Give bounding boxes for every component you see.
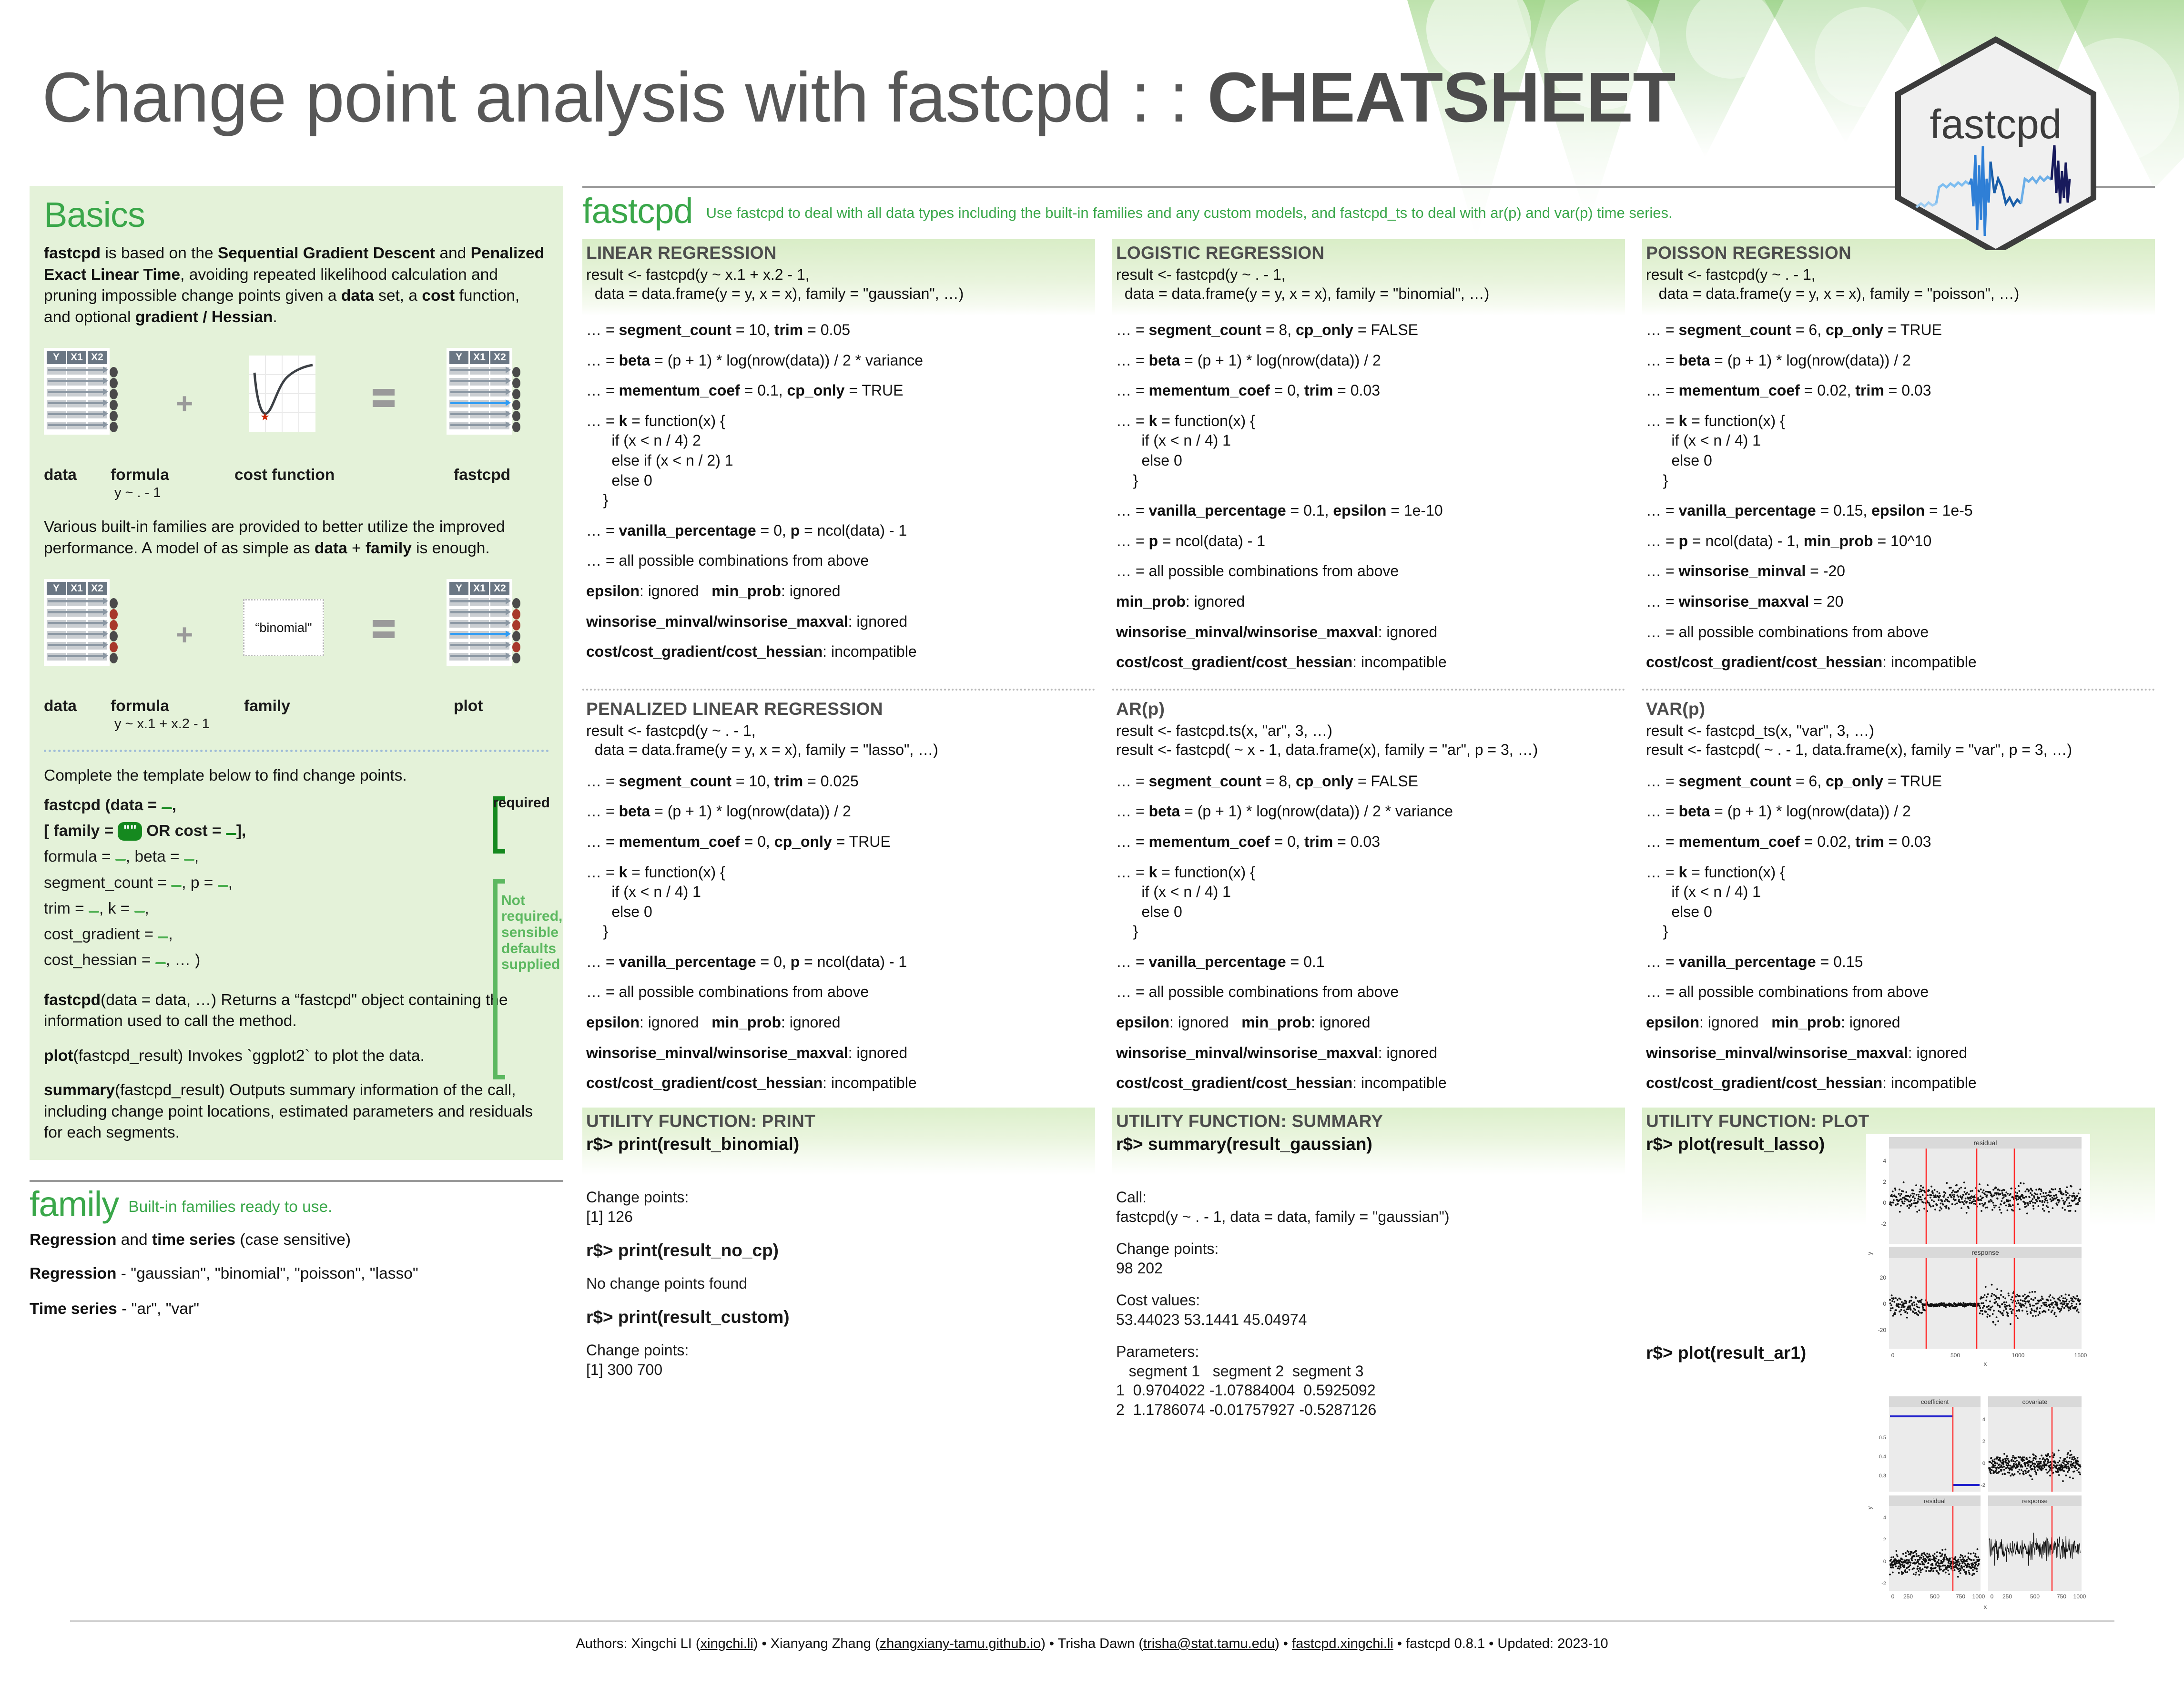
r-prompt: r$> print(result_no_cp): [586, 1239, 1091, 1261]
cell-ar-p: AR(p) result <- fastcpd.ts(x, "ar", 3, ……: [1112, 699, 1625, 1104]
divider-dotted: [1112, 689, 1625, 691]
label-formula-value: y ~ . - 1: [114, 485, 161, 501]
svg-text:500: 500: [1930, 1593, 1940, 1600]
family-line-2: Regression - "gaussian", "binomial", "po…: [30, 1263, 563, 1285]
param-line: … = vanilla_percentage = 0.1: [1116, 952, 1621, 972]
param-line: cost/cost_gradient/cost_hessian: incompa…: [1646, 652, 2151, 672]
col-header-x2: X2: [88, 582, 107, 595]
param-line: … = all possible combinations from above: [1116, 982, 1621, 1002]
param-line: … = mementum_coef = 0, trim = 0.03: [1116, 381, 1621, 401]
divider-dotted: [44, 750, 549, 752]
svg-text:500: 500: [1950, 1352, 1960, 1359]
family-cells-row-2: PENALIZED LINEAR REGRESSION result <- fa…: [582, 699, 2155, 1104]
param-line: cost/cost_gradient/cost_hessian: incompa…: [586, 642, 1091, 662]
cell-code: result <- fastcpd(y ~ x.1 + x.2 - 1, dat…: [586, 265, 1090, 303]
template-placeholder[interactable]: [89, 911, 99, 913]
label-cost-function: cost function: [234, 466, 335, 484]
template-line: cost_gradient = ,: [44, 922, 549, 947]
cell-params: … = segment_count = 8, cp_only = FALSE… …: [1112, 315, 1625, 672]
cell-code: result <- fastcpd(y ~ . - 1, data = data…: [1116, 265, 1620, 303]
svg-text:-2: -2: [1881, 1220, 1886, 1227]
left-column: Basics fastcpd is based on the Sequentia…: [30, 186, 563, 1320]
param-line: … = mementum_coef = 0, trim = 0.03: [1116, 832, 1621, 852]
label-family: family: [244, 697, 290, 715]
param-line: … = mementum_coef = 0, cp_only = TRUE: [586, 832, 1091, 852]
data-table-4: Y X1 X2: [447, 579, 512, 666]
param-line: … = all possible combinations from above: [586, 551, 1091, 571]
template-line: trim = , k = ,: [44, 896, 549, 922]
param-line: epsilon: ignored min_prob: ignored: [586, 1013, 1091, 1033]
svg-text:0: 0: [1883, 1559, 1886, 1565]
plus-icon-1: +: [176, 387, 193, 421]
family-heading: family: [30, 1187, 119, 1222]
col-header-y: Y: [47, 582, 66, 595]
svg-text:2: 2: [1982, 1439, 1985, 1444]
console-output: Change points: 98 202: [1116, 1239, 1621, 1278]
param-line: winsorise_minval/winsorise_maxval: ignor…: [586, 1043, 1091, 1063]
label-data: data: [44, 466, 77, 484]
utility-title: UTILITY FUNCTION: PLOT: [1646, 1111, 2150, 1131]
svg-text:0.4: 0.4: [1879, 1454, 1886, 1460]
param-line: … = beta = (p + 1) * log(nrow(data)) / 2…: [586, 351, 1091, 371]
divider-rule: [30, 1180, 563, 1182]
svg-text:response: response: [2022, 1497, 2047, 1505]
svg-text:500: 500: [2030, 1593, 2040, 1600]
basics-intro: fastcpd is based on the Sequential Gradi…: [44, 243, 549, 328]
param-line: cost/cost_gradient/cost_hessian: incompa…: [1646, 1073, 2151, 1093]
data-table-3: Y X1 X2: [44, 579, 110, 666]
svg-text:response: response: [1971, 1249, 1999, 1256]
equals-icon-2: [373, 620, 395, 643]
col-header-x1: X1: [67, 351, 86, 364]
param-line: … = beta = (p + 1) * log(nrow(data)) / 2…: [1116, 802, 1621, 822]
svg-text:4: 4: [1883, 1158, 1886, 1164]
param-line: … = beta = (p + 1) * log(nrow(data)) / 2: [1116, 351, 1621, 371]
svg-text:750: 750: [1956, 1593, 1965, 1600]
label-plot: plot: [454, 697, 483, 715]
cell-title: PENALIZED LINEAR REGRESSION: [586, 699, 1091, 719]
cell-params: … = segment_count = 6, cp_only = TRUE… =…: [1642, 315, 2155, 672]
r-prompt: r$> summary(result_gaussian): [1116, 1134, 1620, 1154]
fastcpd-logo: fastcpd: [1893, 36, 2098, 250]
param-line: … = mementum_coef = 0.1, cp_only = TRUE: [586, 381, 1091, 401]
data-table-1: Y X1 X2: [44, 348, 110, 435]
param-line: … = beta = (p + 1) * log(nrow(data)) / 2: [586, 802, 1091, 822]
cost-function-plot: ★: [249, 356, 315, 432]
svg-text:0: 0: [1883, 1301, 1886, 1307]
console-output: Call: fastcpd(y ~ . - 1, data = data, fa…: [1116, 1188, 1621, 1227]
param-line: … = segment_count = 10, trim = 0.025: [586, 772, 1091, 792]
summary-output: Call: fastcpd(y ~ . - 1, data = data, fa…: [1112, 1188, 1625, 1420]
svg-text:x: x: [1984, 1360, 1987, 1367]
label-formula-value: y ~ x.1 + x.2 - 1: [114, 716, 210, 732]
cell-logistic-regression: LOGISTIC REGRESSION result <- fastcpd(y …: [1112, 239, 1625, 683]
cell-params: … = segment_count = 8, cp_only = FALSE… …: [1112, 759, 1625, 1093]
svg-text:2: 2: [1883, 1537, 1886, 1543]
page-header: Change point analysis with fastcpd : : C…: [0, 0, 2184, 191]
template-placeholder[interactable]: [115, 859, 126, 861]
col-header-y: Y: [449, 351, 468, 364]
param-line: epsilon: ignored min_prob: ignored: [1116, 1013, 1621, 1033]
cell-title: AR(p): [1116, 699, 1621, 719]
param-line: … = vanilla_percentage = 0, p = ncol(dat…: [586, 952, 1091, 972]
template-line: segment_count = , p = ,: [44, 870, 549, 896]
svg-text:0: 0: [1891, 1593, 1895, 1600]
svg-text:0.5: 0.5: [1879, 1435, 1886, 1441]
template-placeholder[interactable]: [226, 833, 236, 835]
template-placeholder[interactable]: [184, 859, 194, 861]
returns-note: fastcpd(data = data, …) Returns a “fastc…: [44, 990, 549, 1032]
console-output: Parameters: segment 1 segment 2 segment …: [1116, 1342, 1621, 1420]
cell-poisson-regression: POISSON REGRESSION result <- fastcpd(y ~…: [1642, 239, 2155, 683]
plot-note: plot(fastcpd_result) Invokes `ggplot2` t…: [44, 1046, 549, 1067]
svg-text:0: 0: [1883, 1200, 1886, 1206]
template-placeholder[interactable]: [171, 885, 182, 887]
svg-text:residual: residual: [1924, 1497, 1946, 1505]
cell-code: result <- fastcpd(y ~ . - 1, data = data…: [1646, 265, 2150, 303]
cell-params: … = segment_count = 10, trim = 0.025… = …: [582, 759, 1095, 1093]
col-header-x2: X2: [88, 351, 107, 364]
page-title: Change point analysis with fastcpd : : C…: [42, 57, 1676, 138]
basics-diagram-2: Y X1 X2 + “binomial" Y: [44, 576, 549, 695]
divider-dotted: [582, 689, 1095, 691]
basics-intro-2: Various built-in families are provided t…: [44, 517, 549, 559]
param-line: … = segment_count = 8, cp_only = FALSE: [1116, 772, 1621, 792]
right-column: fastcpd Use fastcpd to deal with all dat…: [582, 186, 2155, 1420]
fastcpd-heading: fastcpd: [582, 193, 693, 229]
cell-utility-summary: UTILITY FUNCTION: SUMMARY r$> summary(re…: [1112, 1108, 1625, 1420]
plus-icon-2: +: [176, 618, 193, 652]
diagram-2-labels: data formula y ~ x.1 + x.2 - 1 family pl…: [44, 697, 549, 737]
lasso-ggplot-svg: y residual 420-2 re: [1866, 1134, 2090, 1368]
label-fastcpd: fastcpd: [454, 466, 510, 484]
param-line: … = beta = (p + 1) * log(nrow(data)) / 2: [1646, 351, 2151, 371]
label-formula: formula: [111, 466, 169, 484]
col-header-y: Y: [47, 351, 66, 364]
svg-text:2: 2: [1883, 1179, 1886, 1185]
template-placeholder[interactable]: [155, 962, 166, 964]
svg-text:1500: 1500: [2074, 1352, 2087, 1359]
param-line: … = segment_count = 6, cp_only = TRUE: [1646, 320, 2151, 340]
cell-title: LINEAR REGRESSION: [586, 243, 1090, 263]
logo-label: fastcpd: [1930, 102, 2062, 147]
param-line: cost/cost_gradient/cost_hessian: incompa…: [586, 1073, 1091, 1093]
console-output: No change points found: [586, 1274, 1091, 1293]
param-line: winsorise_minval/winsorise_maxval: ignor…: [1116, 622, 1621, 642]
col-header-x1: X1: [470, 351, 489, 364]
template-line: fastcpd (data = ,: [44, 793, 549, 818]
svg-text:-2: -2: [1881, 1581, 1886, 1586]
cell-title: VAR(p): [1646, 699, 2151, 719]
param-line: … = beta = (p + 1) * log(nrow(data)) / 2: [1646, 802, 2151, 822]
param-line: winsorise_minval/winsorise_maxval: ignor…: [1646, 1043, 2151, 1063]
template-placeholder[interactable]: [134, 911, 145, 913]
svg-text:750: 750: [2057, 1593, 2066, 1600]
param-line: … = segment_count = 10, trim = 0.05: [586, 320, 1091, 340]
param-line: … = all possible combinations from above: [1116, 561, 1621, 581]
param-line: … = segment_count = 8, cp_only = FALSE: [1116, 320, 1621, 340]
cell-utility-plot: UTILITY FUNCTION: PLOT r$> plot(result_l…: [1642, 1108, 2155, 1420]
svg-text:1000: 1000: [2073, 1593, 2086, 1600]
param-line: … = segment_count = 6, cp_only = TRUE: [1646, 772, 2151, 792]
template-intro: Complete the template below to find chan…: [44, 765, 549, 787]
equals-icon-1: [373, 389, 395, 412]
basics-heading: Basics: [44, 197, 549, 233]
svg-text:-2: -2: [1981, 1483, 1985, 1488]
console-output: Change points: [1] 300 700: [586, 1341, 1091, 1380]
summary-note: summary(fastcpd_result) Outputs summary …: [44, 1080, 549, 1144]
svg-text:0.3: 0.3: [1879, 1473, 1886, 1479]
print-output: Change points: [1] 126r$> print(result_n…: [582, 1188, 1095, 1380]
svg-text:coefficient: coefficient: [1921, 1398, 1949, 1405]
param-line: … = vanilla_percentage = 0.1, epsilon = …: [1116, 501, 1621, 521]
param-line: … = k = function(x) { if (x < n / 4) 1 e…: [1116, 863, 1621, 942]
r-prompt: r$> print(result_custom): [586, 1306, 1091, 1328]
param-line: … = k = function(x) { if (x < n / 4) 1 e…: [1116, 411, 1621, 490]
cell-title: LOGISTIC REGRESSION: [1116, 243, 1620, 263]
cell-params: … = segment_count = 10, trim = 0.05… = b…: [582, 315, 1095, 662]
col-header-x1: X1: [470, 582, 489, 595]
plot-thumbnail-lasso: y residual 420-2 re: [1866, 1134, 2090, 1370]
param-line: … = winsorise_minval = -20: [1646, 561, 2151, 581]
param-line: … = mementum_coef = 0.02, trim = 0.03: [1646, 381, 2151, 401]
param-line: … = k = function(x) { if (x < n / 4) 2 e…: [586, 411, 1091, 510]
cell-params: … = segment_count = 6, cp_only = TRUE… =…: [1642, 759, 2155, 1093]
svg-text:4: 4: [1982, 1417, 1985, 1423]
svg-text:y: y: [1866, 1506, 1873, 1509]
svg-text:covariate: covariate: [2022, 1398, 2048, 1405]
param-line: … = vanilla_percentage = 0.15, epsilon =…: [1646, 501, 2151, 521]
svg-text:250: 250: [1903, 1593, 1913, 1600]
param-line: … = vanilla_percentage = 0.15: [1646, 952, 2151, 972]
ar1-ggplot-svg: y coefficient 0.50.40.3 covariat: [1866, 1393, 2090, 1617]
cell-var-p: VAR(p) result <- fastcpd_ts(x, "var", 3,…: [1642, 699, 2155, 1104]
svg-text:20: 20: [1880, 1274, 1887, 1281]
param-line: … = all possible combinations from above: [1646, 622, 2151, 642]
fastcpd-template: fastcpd (data = , [ family = "" OR cost …: [44, 793, 549, 974]
basics-diagram-1: Y X1 X2 +: [44, 345, 549, 464]
cell-code: result <- fastcpd(y ~ . - 1, data = data…: [586, 721, 1091, 759]
svg-text:4: 4: [1883, 1515, 1886, 1521]
cell-linear-regression: LINEAR REGRESSION result <- fastcpd(y ~ …: [582, 239, 1095, 683]
col-header-y: Y: [449, 582, 468, 595]
param-line: cost/cost_gradient/cost_hessian: incompa…: [1116, 1073, 1621, 1093]
svg-text:x: x: [1984, 1603, 1987, 1610]
param-line: min_prob: ignored: [1116, 592, 1621, 612]
svg-text:1000: 1000: [2012, 1352, 2025, 1359]
param-line: … = winsorise_maxval = 20: [1646, 592, 2151, 612]
fastcpd-intro: Use fastcpd to deal with all data types …: [706, 193, 1673, 223]
family-subtitle: Built-in families ready to use.: [128, 1198, 332, 1222]
param-line: … = p = ncol(data) - 1: [1116, 531, 1621, 551]
cell-utility-print: UTILITY FUNCTION: PRINT r$> print(result…: [582, 1108, 1095, 1420]
param-line: … = all possible combinations from above: [1646, 982, 2151, 1002]
template-placeholder[interactable]: "": [118, 822, 142, 841]
console-output: Cost values: 53.44023 53.1441 45.04974: [1116, 1291, 1621, 1330]
template-placeholder[interactable]: [218, 885, 228, 887]
svg-text:0: 0: [1891, 1352, 1895, 1359]
param-line: … = p = ncol(data) - 1, min_prob = 10^10: [1646, 531, 2151, 551]
col-header-x2: X2: [490, 351, 509, 364]
brace-optional: [493, 879, 498, 1079]
param-line: cost/cost_gradient/cost_hessian: incompa…: [1116, 652, 1621, 672]
svg-text:1000: 1000: [1972, 1593, 1985, 1600]
console-output: Change points: [1] 126: [586, 1188, 1091, 1227]
brace-optional-label: Not required, sensible defaults supplied: [501, 893, 549, 973]
divider-dotted: [1642, 689, 2155, 691]
svg-text:250: 250: [2002, 1593, 2012, 1600]
svg-text:y: y: [1866, 1251, 1873, 1255]
family-cells-row-1: LINEAR REGRESSION result <- fastcpd(y ~ …: [582, 239, 2155, 683]
svg-text:-20: -20: [1878, 1327, 1887, 1333]
template-placeholder[interactable]: [162, 807, 172, 809]
param-line: epsilon: ignored min_prob: ignored: [586, 581, 1091, 601]
brace-required-label: required: [493, 792, 550, 815]
param-line: … = vanilla_percentage = 0, p = ncol(dat…: [586, 521, 1091, 541]
r-prompt: r$> print(result_binomial): [586, 1134, 1090, 1154]
label-data: data: [44, 697, 77, 715]
cell-code: result <- fastcpd_ts(x, "var", 3, …) res…: [1646, 721, 2151, 759]
family-panel: family Built-in families ready to use. R…: [30, 1180, 563, 1320]
template-line: formula = , beta = ,: [44, 844, 549, 870]
param-line: … = all possible combinations from above: [586, 982, 1091, 1002]
family-value-box: “binomial": [243, 599, 324, 656]
col-header-x2: X2: [490, 582, 509, 595]
param-line: … = mementum_coef = 0.02, trim = 0.03: [1646, 832, 2151, 852]
utility-row: UTILITY FUNCTION: PRINT r$> print(result…: [582, 1108, 2155, 1420]
diagram-1-labels: data formula y ~ . - 1 cost function fas…: [44, 466, 549, 506]
cell-penalized-linear-regression: PENALIZED LINEAR REGRESSION result <- fa…: [582, 699, 1095, 1104]
cell-code: result <- fastcpd.ts(x, "ar", 3, …) resu…: [1116, 721, 1621, 759]
template-line: [ family = "" OR cost = ],: [44, 818, 549, 844]
svg-text:residual: residual: [1973, 1139, 1997, 1147]
svg-text:★: ★: [260, 411, 270, 423]
label-formula: formula: [111, 697, 169, 715]
data-table-2: Y X1 X2: [447, 348, 512, 435]
param-line: winsorise_minval/winsorise_maxval: ignor…: [1116, 1043, 1621, 1063]
template-line: cost_hessian = , … ): [44, 947, 549, 973]
family-line-1: Regression and time series (case sensiti…: [30, 1230, 563, 1251]
utility-title: UTILITY FUNCTION: SUMMARY: [1116, 1111, 1620, 1131]
param-line: epsilon: ignored min_prob: ignored: [1646, 1013, 2151, 1033]
basics-panel: Basics fastcpd is based on the Sequentia…: [30, 186, 563, 1160]
param-line: … = k = function(x) { if (x < n / 4) 1 e…: [586, 863, 1091, 942]
param-line: … = k = function(x) { if (x < n / 4) 1 e…: [1646, 863, 2151, 942]
param-line: … = k = function(x) { if (x < n / 4) 1 e…: [1646, 411, 2151, 490]
utility-title: UTILITY FUNCTION: PRINT: [586, 1111, 1090, 1131]
col-header-x1: X1: [67, 582, 86, 595]
family-line-3: Time series - "ar", "var": [30, 1299, 563, 1320]
plot-thumbnail-ar1: y coefficient 0.50.40.3 covariat: [1866, 1393, 2090, 1620]
template-placeholder[interactable]: [158, 936, 168, 938]
svg-text:0: 0: [1991, 1593, 1994, 1600]
svg-text:0: 0: [1982, 1461, 1985, 1466]
param-line: winsorise_minval/winsorise_maxval: ignor…: [586, 612, 1091, 632]
